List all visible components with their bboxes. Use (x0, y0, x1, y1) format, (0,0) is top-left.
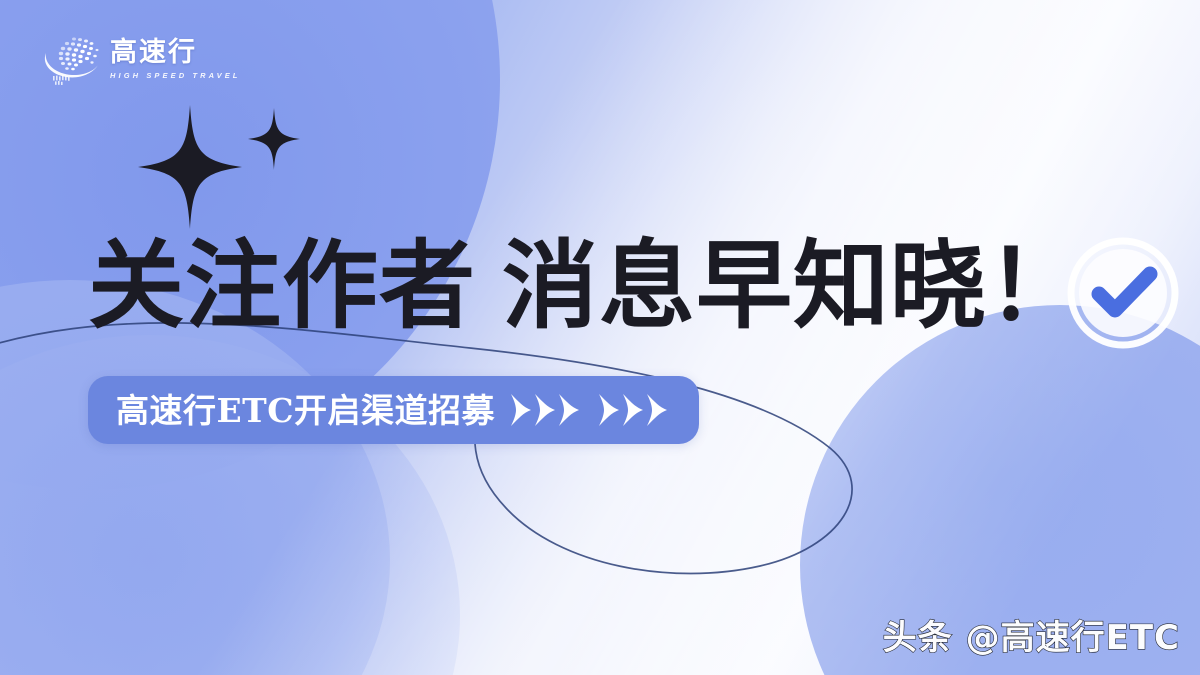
play-triangle-icon (621, 393, 645, 427)
promo-pill-label: 高速行ETC开启渠道招募 (116, 394, 495, 427)
headline-part-1: 关注作者 (88, 238, 476, 334)
logo-english-tagline: HIGH SPEED TRAVEL (110, 72, 241, 80)
promo-pill-banner[interactable]: 高速行ETC开启渠道招募 (88, 376, 699, 444)
play-triangle-icon (557, 393, 581, 427)
poster-canvas: 高速行 HIGH SPEED TRAVEL 关注作者 消息早知晓！ 高速行ETC… (0, 0, 1200, 675)
promo-arrows (509, 393, 669, 427)
brand-logo: 高速行 HIGH SPEED TRAVEL (40, 28, 240, 90)
logo-chinese-name: 高速行 (110, 39, 241, 66)
dotted-globe-swoosh-icon (40, 31, 102, 87)
play-triangle-icon (645, 393, 669, 427)
headline: 关注作者 消息早知晓！ (88, 226, 1084, 346)
sparkle-star-icon (138, 105, 242, 229)
play-triangle-icon (509, 393, 533, 427)
verified-check-icon (1066, 236, 1180, 350)
arrow-group-1 (509, 393, 581, 427)
play-triangle-icon (597, 393, 621, 427)
headline-part-2: 消息早知晓！ (502, 238, 1084, 334)
watermark: 头条 @高速行ETC (883, 618, 1180, 659)
play-triangle-icon (533, 393, 557, 427)
arrow-group-2 (597, 393, 669, 427)
sparkle-star-icon (248, 108, 300, 170)
